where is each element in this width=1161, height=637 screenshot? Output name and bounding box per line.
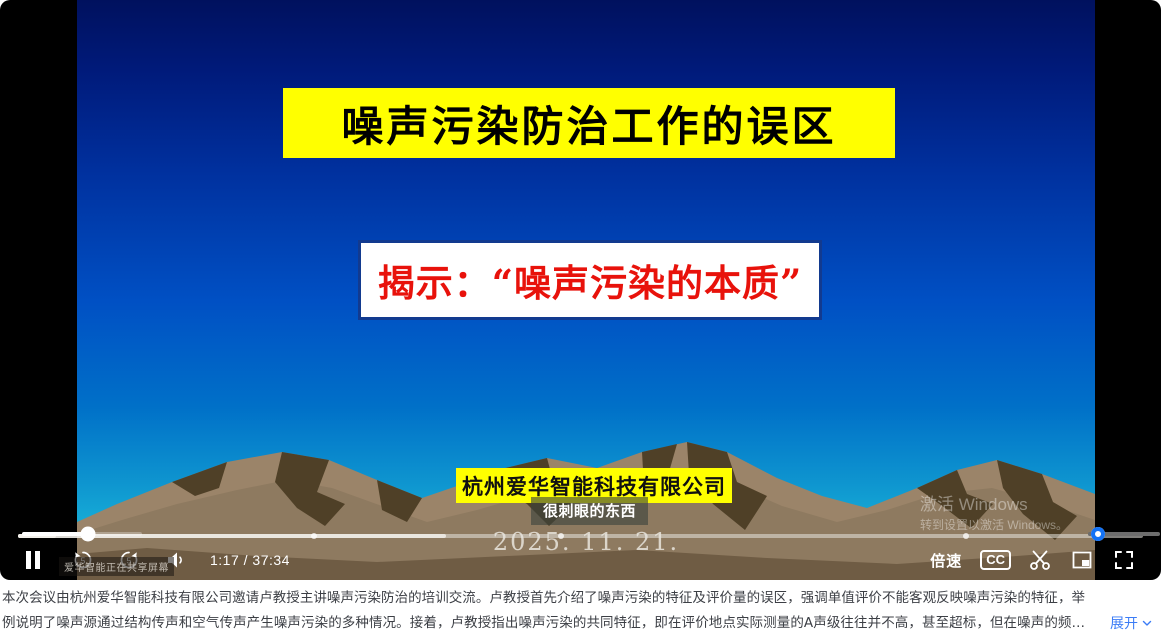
pause-button[interactable] xyxy=(14,541,52,579)
fullscreen-button[interactable] xyxy=(1105,541,1143,579)
picture-in-picture-button[interactable] xyxy=(1063,541,1101,579)
scissors-icon xyxy=(1028,548,1052,572)
chapter-marker[interactable] xyxy=(558,533,564,539)
closed-captions-button[interactable]: CC xyxy=(980,550,1011,570)
time-display: 1:17 / 37:34 xyxy=(210,552,290,568)
description-text: 本次会议由杭州爱华智能科技有限公司邀请卢教授主讲噪声污染防治的培训交流。卢教授首… xyxy=(2,586,1161,636)
screen-share-banner: 爱华智能正在共享屏幕 xyxy=(59,557,174,576)
volume-slider-right[interactable] xyxy=(1088,532,1160,536)
volume-knob[interactable] xyxy=(1091,527,1105,541)
video-description: 本次会议由杭州爱华智能科技有限公司邀请卢教授主讲噪声污染防治的培训交流。卢教授首… xyxy=(0,582,1161,637)
danmaku-comment: 很刺眼的东西 xyxy=(531,497,648,525)
video-player[interactable]: 噪声污染防治工作的误区 揭示：“噪声污染的本质” 杭州爱华智能科技有限公司 很刺… xyxy=(0,0,1161,580)
pause-icon xyxy=(24,550,42,570)
volume-slider-left[interactable] xyxy=(22,532,142,536)
slide-title: 噪声污染防治工作的误区 xyxy=(283,88,895,158)
playback-speed-button[interactable]: 倍速 xyxy=(922,546,970,575)
clip-button[interactable] xyxy=(1021,541,1059,579)
chapter-marker[interactable] xyxy=(311,533,317,539)
progress-bar[interactable] xyxy=(18,534,1143,538)
chevron-down-icon xyxy=(1141,617,1153,629)
slide-subtitle: 揭示：“噪声污染的本质” xyxy=(358,240,822,320)
expand-description-button[interactable]: 展开 xyxy=(1102,613,1153,633)
fullscreen-icon xyxy=(1112,548,1136,572)
picture-in-picture-icon xyxy=(1070,548,1094,572)
expand-label: 展开 xyxy=(1110,613,1138,633)
controls-right-group: 倍速 CC xyxy=(922,541,1161,579)
chapter-marker[interactable] xyxy=(963,533,969,539)
video-stage[interactable]: 噪声污染防治工作的误区 揭示：“噪声污染的本质” 杭州爱华智能科技有限公司 很刺… xyxy=(77,0,1095,580)
volume-fill xyxy=(22,532,88,536)
player-controls: 5 5 1:17 / 37:34 倍速 C xyxy=(0,540,1161,580)
